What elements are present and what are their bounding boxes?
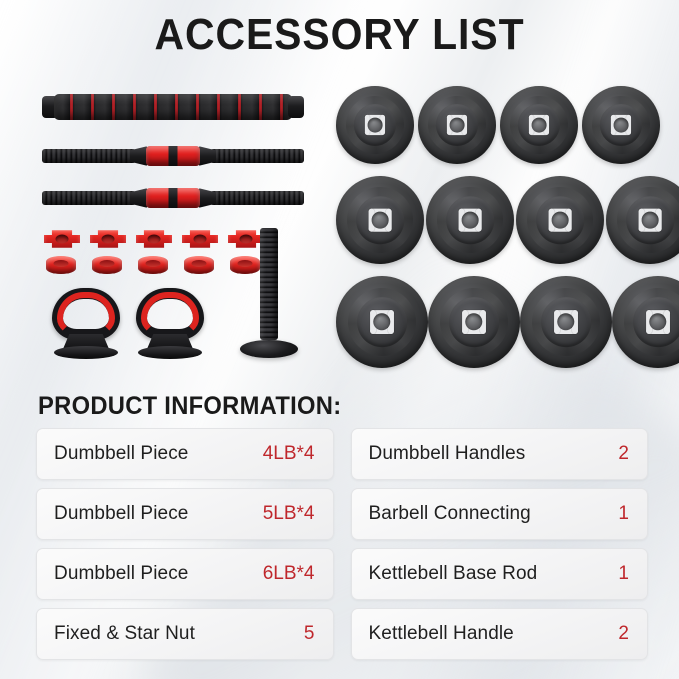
weight-plate-grid [336,86,672,376]
spec-row: Fixed & Star Nut5 [36,608,334,660]
kettlebell-red-grip [141,292,199,336]
weight-plate [336,86,414,164]
handle-thread-right [210,149,304,163]
weight-plate-row [336,276,672,368]
weight-plate [426,176,514,264]
star-nut-hole [194,235,207,244]
spec-row: Barbell Connecting1 [351,488,649,540]
spec-label: Kettlebell Base Rod [369,563,538,585]
spec-value: 4LB*4 [263,443,315,465]
rod-end-cap-right [288,96,304,118]
handle-red-grip [146,188,200,208]
handle-thread-left [42,149,136,163]
spec-value: 1 [618,563,629,585]
fixed-collar [92,256,122,274]
star-nut [136,228,172,250]
weight-plate [606,176,679,264]
rod-foam-grip [54,94,292,120]
infographic-page: ACCESSORY LIST [0,0,679,679]
kettlebell-red-grip [57,292,115,336]
star-nut [182,228,218,250]
kettlebell-base-rod-image [240,228,298,358]
plate-center-hole [450,118,465,133]
spec-column-right: Dumbbell Handles2Barbell Connecting1Kett… [351,428,649,660]
star-nut [90,228,126,250]
spec-row: Dumbbell Piece4LB*4 [36,428,334,480]
fixed-collar [138,256,168,274]
product-information-heading: PRODUCT INFORMATION: [38,392,341,421]
spec-value: 2 [618,443,629,465]
base-rod-disc [240,340,298,358]
spec-value: 6LB*4 [263,563,315,585]
fixed-collar-row [46,256,272,274]
plate-center-hole [462,212,479,229]
kettlebell-base-disc [138,346,202,359]
plate-center-hole [532,118,547,133]
star-nut-hole [56,235,69,244]
spec-row: Dumbbell Piece5LB*4 [36,488,334,540]
weight-plate-row [336,176,672,264]
handle-red-grip [146,146,200,166]
spec-value: 5 [304,623,315,645]
kettlebell-base-disc [54,346,118,359]
spec-column-left: Dumbbell Piece4LB*4Dumbbell Piece5LB*4Du… [36,428,334,660]
weight-plate [336,276,428,368]
spec-value: 1 [618,503,629,525]
spec-row: Kettlebell Handle2 [351,608,649,660]
weight-plate [520,276,612,368]
plate-center-hole [614,118,629,133]
plate-center-hole [552,212,569,229]
star-nut-hole [148,235,161,244]
base-rod-shaft [260,228,278,340]
spec-row: Dumbbell Piece6LB*4 [36,548,334,600]
spec-label: Kettlebell Handle [369,623,514,645]
spec-value: 5LB*4 [263,503,315,525]
fixed-collar [184,256,214,274]
weight-plate [500,86,578,164]
weight-plate [336,176,424,264]
product-gallery [0,78,679,388]
page-title: ACCESSORY LIST [24,10,655,60]
star-nut [44,228,80,250]
fixed-collar [46,256,76,274]
plate-center-hole [642,212,659,229]
spec-row: Dumbbell Handles2 [351,428,649,480]
spec-label: Fixed & Star Nut [54,623,195,645]
weight-plate [428,276,520,368]
plate-center-hole [372,212,389,229]
spec-label: Barbell Connecting [369,503,531,525]
spec-label: Dumbbell Piece [54,563,188,585]
weight-plate [612,276,679,368]
dumbbell-handle-image-2 [42,188,304,208]
weight-plate-row [336,86,672,164]
barbell-connecting-rod-image [42,94,304,120]
dumbbell-handle-image-1 [42,146,304,166]
plate-center-hole [368,118,383,133]
specification-table: Dumbbell Piece4LB*4Dumbbell Piece5LB*4Du… [36,428,648,660]
star-nut-hole [102,235,115,244]
handle-thread-right [210,191,304,205]
spec-row: Kettlebell Base Rod1 [351,548,649,600]
spec-label: Dumbbell Piece [54,443,188,465]
spec-value: 2 [618,623,629,645]
kettlebell-handle-image-2 [132,288,208,356]
weight-plate [582,86,660,164]
weight-plate [516,176,604,264]
handle-thread-left [42,191,136,205]
weight-plate [418,86,496,164]
spec-label: Dumbbell Handles [369,443,526,465]
kettlebell-handle-image-1 [48,288,124,356]
spec-label: Dumbbell Piece [54,503,188,525]
